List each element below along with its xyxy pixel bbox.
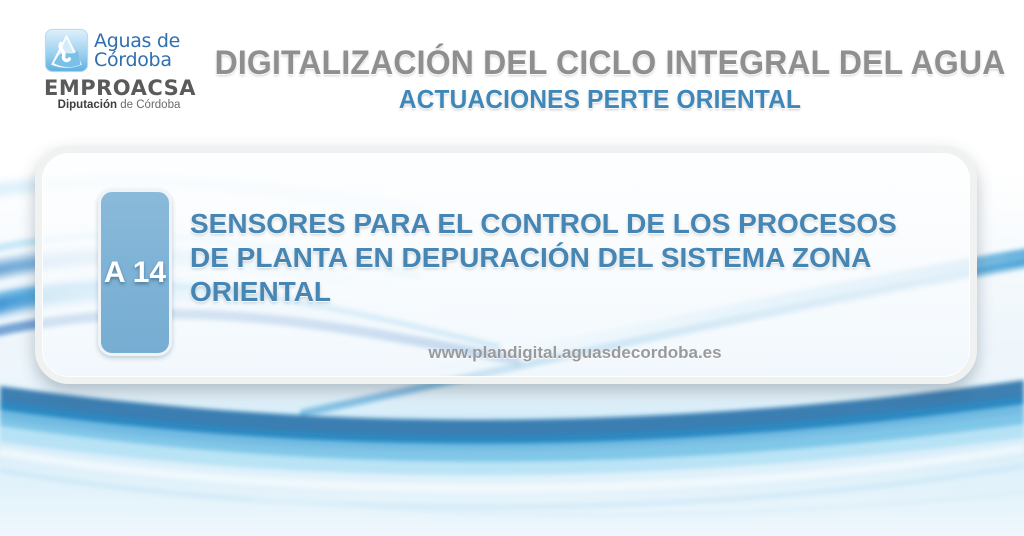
- website-url[interactable]: www.plandigital.aguasdecordoba.es: [190, 343, 960, 363]
- page-subtitle: ACTUACIONES PERTE ORIENTAL: [215, 84, 986, 114]
- action-code-badge: A 14: [98, 189, 172, 356]
- brand-subtitle-rest: de Córdoba: [117, 99, 180, 111]
- action-heading: SENSORES PARA EL CONTROL DE LOS PROCESOS…: [190, 207, 940, 309]
- brand-logo-aguas-de-cordoba: Aguas de Córdoba EMPROACSA Diputación de…: [44, 28, 194, 112]
- poster-footer: Financiado por la Unión Europea NextGene…: [0, 430, 1024, 536]
- header-titles: DIGITALIZACIÓN DEL CICLO INTEGRAL DEL AG…: [190, 44, 1010, 114]
- poster-stage: Aguas de Córdoba EMPROACSA Diputación de…: [0, 0, 1024, 536]
- brand-name-line1: Aguas de: [94, 32, 180, 51]
- brand-company-name: EMPROACSA: [44, 78, 194, 99]
- water-drop-logo-icon: [44, 28, 89, 73]
- poster-header: Aguas de Córdoba EMPROACSA Diputación de…: [0, 0, 1024, 140]
- brand-subtitle: Diputación de Córdoba: [44, 100, 194, 112]
- action-card: A 14 SENSORES PARA EL CONTROL DE LOS PRO…: [35, 146, 977, 384]
- page-title: DIGITALIZACIÓN DEL CICLO INTEGRAL DEL AG…: [215, 44, 986, 82]
- action-code-label: A 14: [104, 256, 166, 290]
- brand-name-line2: Córdoba: [94, 51, 180, 70]
- brand-subtitle-bold: Diputación: [58, 99, 117, 111]
